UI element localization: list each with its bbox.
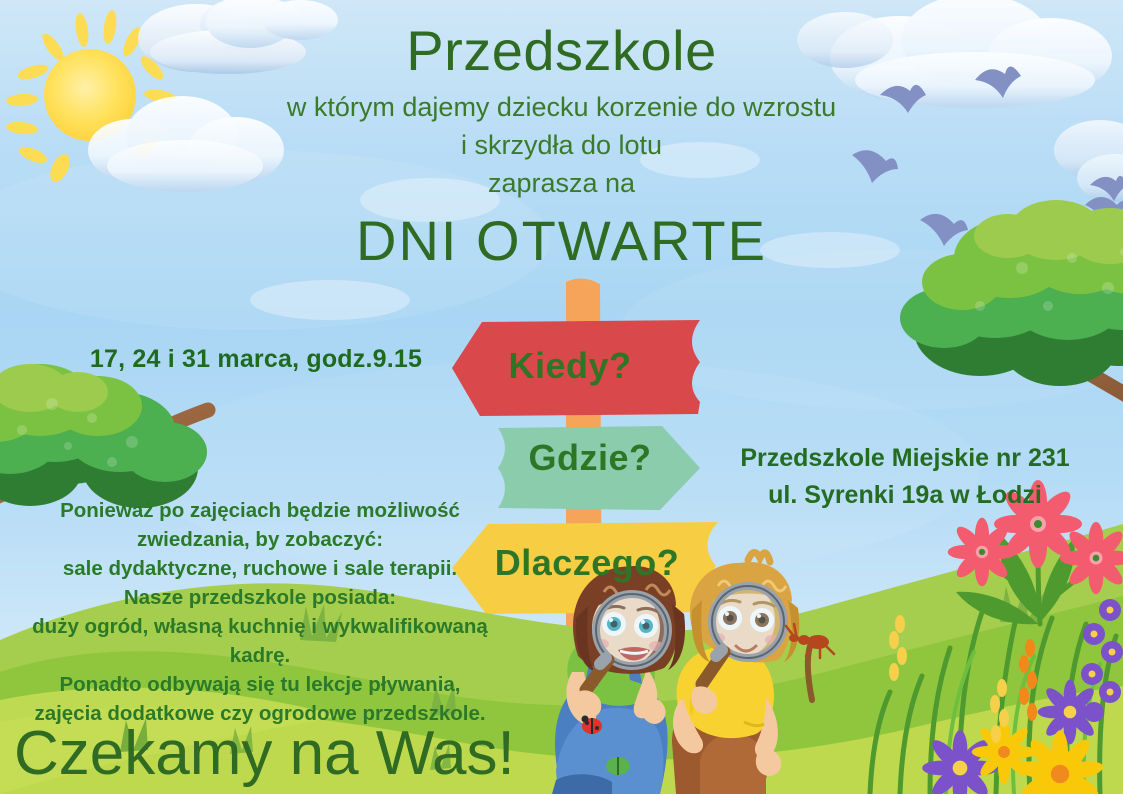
ladybug-icon [582,716,603,735]
sign-label-kiedy: Kiedy? [470,345,670,387]
magnifying-glass-girl [586,594,668,690]
flower-yellow-daisy [972,720,1105,794]
date-info: 17, 24 i 31 marca, godz.9.15 [56,345,456,374]
page-title: Przedszkole [0,18,1123,83]
address-info: Przedszkole Miejskie nr 231 ul. Syrenki … [700,440,1110,514]
poster-canvas: Przedszkole w którym dajemy dziecku korz… [0,0,1123,794]
description-text: Ponieważ po zajęciach będzie możliwość z… [10,496,510,728]
flower-orange-spike [889,615,1037,743]
flower-purple-daisy [922,680,1102,794]
ant-icon [786,624,834,700]
sign-label-gdzie: Gdzie? [490,437,690,479]
closing-text: Czekamy na Was! [14,718,574,789]
subtitle-text: w którym dajemy dziecku korzenie do wzro… [0,88,1123,202]
event-title: DNI OTWARTE [0,208,1123,273]
tree-icon-left [0,364,208,508]
flower-icon-cluster-right [870,480,1123,794]
child-boy [672,552,799,794]
sign-label-dlaczego: Dlaczego? [462,542,712,584]
flower-purple-spike [1081,599,1123,722]
magnifying-glass-boy [702,586,784,684]
